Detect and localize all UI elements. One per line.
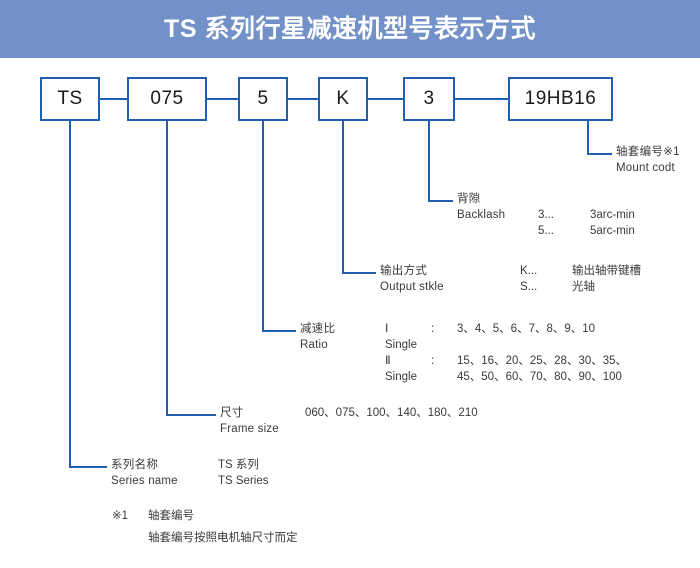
ratio-stage-values: 45、50、60、70、80、90、100: [457, 371, 622, 383]
annotation-frame-size: 尺寸 Frame size: [220, 405, 279, 437]
leader-backlash: [429, 121, 453, 201]
annotation-series-name: 系列名称 Series name: [111, 457, 178, 489]
annotation-mount-code: 轴套编号※1 Mount codt: [616, 144, 680, 176]
ratio-stage-values: 15、16、20、25、28、30、35、: [457, 355, 627, 367]
leader-mount-code: [588, 121, 612, 154]
output-style-option-key: K...: [520, 263, 572, 279]
footnote-mark: ※1: [112, 505, 148, 527]
series-name-value-cn: TS 系列: [218, 457, 269, 473]
ratio-stages: Ⅰ:3、4、5、6、7、8、9、10 Single Ⅱ:15、16、20、25、…: [385, 321, 627, 385]
backlash-label-cn: 背隙: [457, 191, 505, 207]
backlash-option-value: 5arc-min: [590, 225, 635, 237]
ratio-stage-colon: :: [431, 321, 457, 337]
ratio-stage-label: Single: [385, 337, 431, 353]
backlash-option-key: 5...: [538, 223, 590, 239]
backlash-option-row: 5...5arc-min: [538, 223, 635, 239]
frame-size-label-cn: 尺寸: [220, 405, 279, 421]
annotation-output-style: 输出方式 Output stkle: [380, 263, 444, 295]
ratio-label-en: Ratio: [300, 337, 335, 353]
mount-code-label-en: Mount codt: [616, 160, 680, 176]
output-style-option-key: S...: [520, 279, 572, 295]
output-style-label-cn: 输出方式: [380, 263, 444, 279]
code-box-backlash[interactable]: 3: [403, 77, 455, 121]
footnote-description-line: 轴套编号按照电机轴尺寸而定: [112, 527, 298, 549]
ratio-stage-label: Single: [385, 369, 431, 385]
code-box-series-name[interactable]: TS: [40, 77, 100, 121]
ratio-stage-row: Ⅱ:15、16、20、25、28、30、35、: [385, 353, 627, 369]
output-style-option-row: S...光轴: [520, 279, 641, 295]
ratio-stage-roman: Ⅰ: [385, 321, 431, 337]
output-style-option-value: 输出轴带键槽: [572, 265, 641, 277]
backlash-option-key: 3...: [538, 207, 590, 223]
footnote-title-line: ※1轴套编号: [112, 505, 298, 527]
code-box-output-style[interactable]: K: [318, 77, 368, 121]
ratio-stage-row: Single45、50、60、70、80、90、100: [385, 369, 627, 385]
leader-series-name: [70, 121, 107, 467]
leader-ratio: [263, 121, 296, 331]
backlash-option-value: 3arc-min: [590, 209, 635, 221]
footnote-title: 轴套编号: [148, 510, 194, 522]
ratio-stage-row: Single: [385, 337, 627, 353]
output-style-options: K...输出轴带键槽 S...光轴: [520, 263, 641, 295]
annotation-ratio: 减速比 Ratio: [300, 321, 335, 353]
leader-output-style: [343, 121, 376, 273]
annotation-backlash: 背隙 Backlash: [457, 191, 505, 223]
backlash-options: 3...3arc-min 5...5arc-min: [538, 207, 635, 239]
backlash-option-row: 3...3arc-min: [538, 207, 635, 223]
frame-size-values: 060、075、100、140、180、210: [305, 405, 478, 421]
output-style-option-row: K...输出轴带键槽: [520, 263, 641, 279]
ratio-stage-values: 3、4、5、6、7、8、9、10: [457, 323, 595, 335]
series-name-value-en: TS Series: [218, 473, 269, 489]
code-box-mount-code[interactable]: 19HB16: [508, 77, 613, 121]
output-style-label-en: Output stkle: [380, 279, 444, 295]
ratio-label-cn: 减速比: [300, 321, 335, 337]
diagram-page: TS 系列行星减速机型号表示方式 TS 075 5 K 3 19: [0, 0, 700, 568]
code-box-frame-size[interactable]: 075: [127, 77, 207, 121]
code-box-ratio[interactable]: 5: [238, 77, 288, 121]
page-title: TS 系列行星减速机型号表示方式: [0, 0, 700, 58]
mount-code-label-cn: 轴套编号※1: [616, 144, 680, 160]
footnote: ※1轴套编号 轴套编号按照电机轴尺寸而定: [112, 505, 298, 549]
series-name-label-en: Series name: [111, 473, 178, 489]
footnote-description: 轴套编号按照电机轴尺寸而定: [148, 532, 298, 544]
leader-frame-size: [167, 121, 216, 415]
ratio-stage-colon: :: [431, 353, 457, 369]
backlash-label-en: Backlash: [457, 207, 505, 223]
series-name-label-cn: 系列名称: [111, 457, 178, 473]
series-name-values: TS 系列 TS Series: [218, 457, 269, 489]
frame-size-label-en: Frame size: [220, 421, 279, 437]
output-style-option-value: 光轴: [572, 281, 595, 293]
ratio-stage-roman: Ⅱ: [385, 353, 431, 369]
ratio-stage-row: Ⅰ:3、4、5、6、7、8、9、10: [385, 321, 627, 337]
